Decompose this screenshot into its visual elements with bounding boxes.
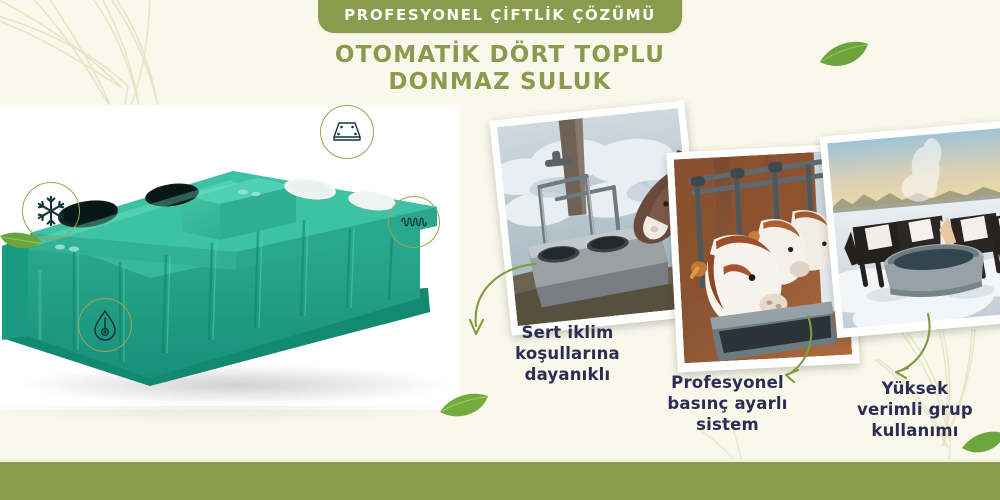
snowflake-icon xyxy=(34,194,68,228)
header-badge: PROFESYONEL ÇİFTLİK ÇÖZÜMÜ xyxy=(318,0,682,33)
caption-2-line-2: basınç ayarlı xyxy=(645,393,810,414)
feature-icon-heating-coil xyxy=(388,196,440,248)
mounting-plate-icon xyxy=(331,119,363,145)
caption-harsh-climate: Sert iklim koşullarına dayanıklı xyxy=(495,322,640,385)
product-illustration xyxy=(0,100,460,410)
footer-bar xyxy=(0,462,1000,500)
page-title: OTOMATİK DÖRT TOPLU DONMAZ SULUK xyxy=(335,42,665,96)
caption-pressure-system: Profesyonel basınç ayarlı sistem xyxy=(645,372,810,435)
photo-group-use-image xyxy=(827,127,1000,328)
caption-2-line-3: sistem xyxy=(645,414,810,435)
photo-harsh-climate-image xyxy=(497,108,699,326)
decor-leaf-left xyxy=(0,228,44,256)
caption-3-line-1: Yüksek xyxy=(835,378,995,399)
caption-2-line-1: Profesyonel xyxy=(645,372,810,393)
decor-leaf-bottom-right xyxy=(960,430,1000,460)
headline-line-2: DONMAZ SULUK xyxy=(335,69,665,96)
poster-canvas: PROFESYONEL ÇİFTLİK ÇÖZÜMÜ OTOMATİK DÖRT… xyxy=(0,0,1000,500)
headline-line-1: OTOMATİK DÖRT TOPLU xyxy=(335,42,665,69)
caption-3-line-2: verimli grup xyxy=(835,399,995,420)
feature-icon-thermometer-droplet xyxy=(78,298,132,352)
caption-1-line-3: dayanıklı xyxy=(495,364,640,385)
photo-card-group-use[interactable] xyxy=(820,120,1000,338)
caption-1-line-1: Sert iklim xyxy=(495,322,640,343)
decor-leaf-bottom-center xyxy=(438,392,490,424)
heating-coil-icon xyxy=(399,214,429,230)
feature-icon-mounting-plate xyxy=(320,105,374,159)
thermometer-droplet-icon xyxy=(90,308,120,342)
decor-leaf-top-right xyxy=(816,38,872,72)
caption-1-line-2: koşullarına xyxy=(495,343,640,364)
